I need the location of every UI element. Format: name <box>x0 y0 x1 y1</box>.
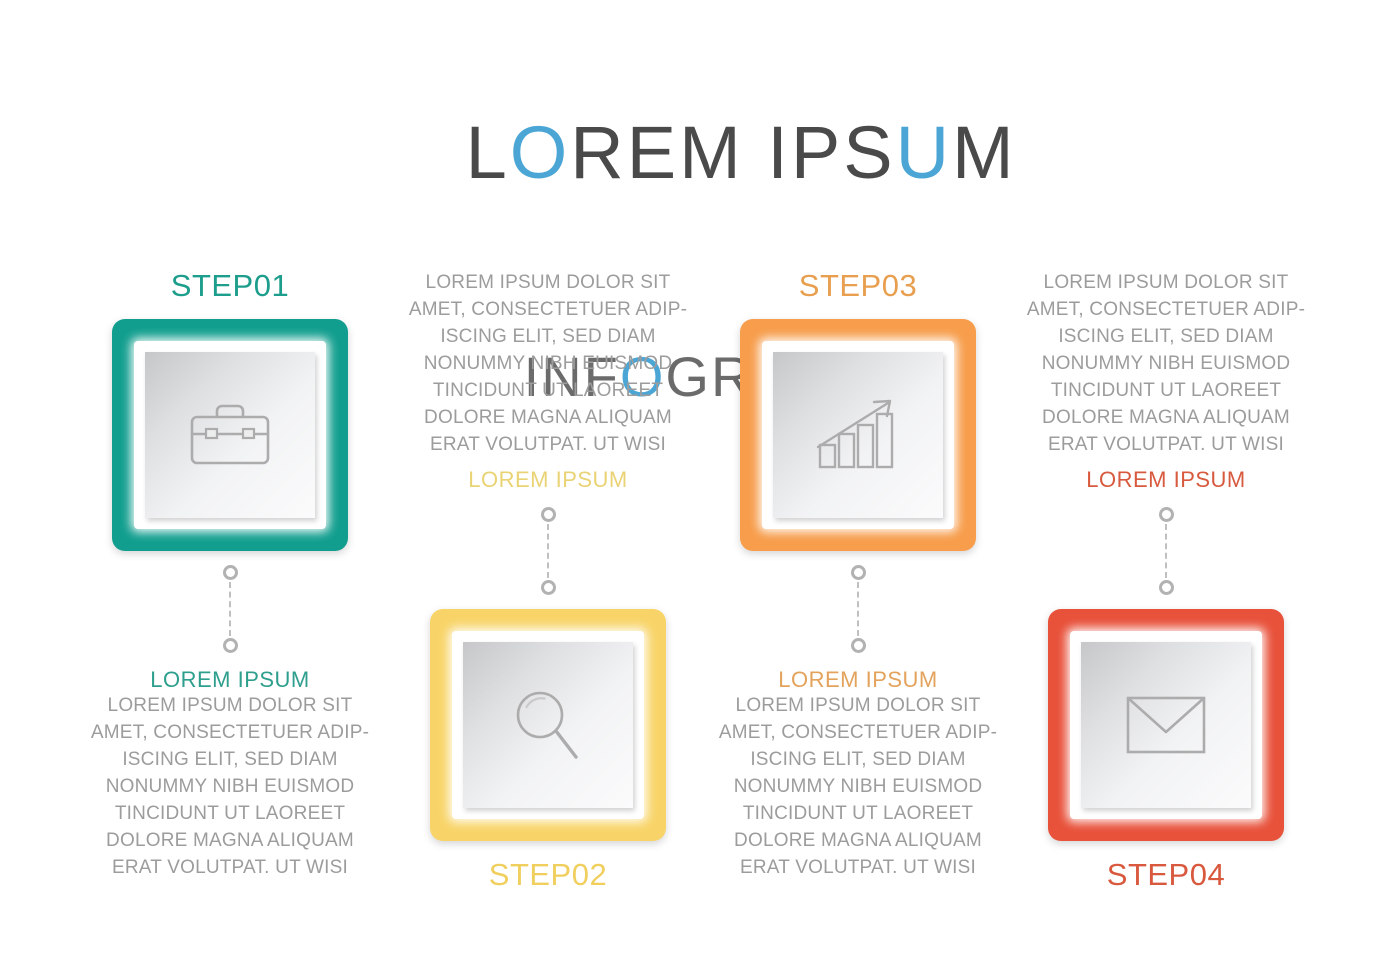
step-heading-step02: LOREM IPSUM <box>408 467 688 493</box>
card-face <box>773 352 943 518</box>
title-part: L <box>466 111 510 194</box>
step-card-step01[interactable] <box>112 319 348 551</box>
step-card-step02[interactable] <box>430 609 666 841</box>
step-label-step01: STEP01 <box>171 270 289 301</box>
connector-step01 <box>223 565 238 653</box>
step-body-step04: LOREM IPSUM DOLOR SIT AMET, CONSECTETUER… <box>1026 270 1306 459</box>
connector-ring-top <box>541 507 556 522</box>
connector-line <box>1165 524 1167 578</box>
step-body-step01: LOREM IPSUM DOLOR SIT AMET, CONSECTETUER… <box>90 693 370 882</box>
magnifier-icon <box>512 687 584 763</box>
step-label-step02: STEP02 <box>489 859 607 890</box>
card-inner <box>452 631 644 819</box>
connector-line <box>547 524 549 578</box>
step-label-step04: STEP04 <box>1107 859 1225 890</box>
card-inner <box>134 341 326 529</box>
connector-line <box>229 582 231 636</box>
step-body-step02: LOREM IPSUM DOLOR SIT AMET, CONSECTETUER… <box>408 270 688 459</box>
step-text-step03: LOREM IPSUM LOREM IPSUM DOLOR SIT AMET, … <box>718 667 998 882</box>
step-heading-step03: LOREM IPSUM <box>718 667 998 693</box>
step-column-step02: LOREM IPSUM DOLOR SIT AMET, CONSECTETUER… <box>400 270 696 940</box>
title-part-highlight: O <box>510 111 571 194</box>
step-text-step04: LOREM IPSUM DOLOR SIT AMET, CONSECTETUER… <box>1026 270 1306 493</box>
card-face <box>463 642 633 808</box>
connector-ring-bottom <box>223 638 238 653</box>
envelope-icon <box>1126 696 1206 754</box>
briefcase-icon <box>189 402 271 468</box>
step-body-step03: LOREM IPSUM DOLOR SIT AMET, CONSECTETUER… <box>718 693 998 882</box>
step-label-step03: STEP03 <box>799 270 917 301</box>
step-heading-step04: LOREM IPSUM <box>1026 467 1306 493</box>
connector-ring-bottom <box>851 638 866 653</box>
step-column-step03: STEP03 <box>710 270 1006 940</box>
connector-ring-top <box>223 565 238 580</box>
title-part: REM IPS <box>570 111 895 194</box>
connector-ring-top <box>851 565 866 580</box>
connector-step03 <box>851 565 866 653</box>
connector-ring-bottom <box>1159 580 1174 595</box>
step-column-step01: STEP01 LOREM I <box>82 270 378 940</box>
step-heading-step01: LOREM IPSUM <box>90 667 370 693</box>
connector-line <box>857 582 859 636</box>
connector-ring-bottom <box>541 580 556 595</box>
card-face <box>145 352 315 518</box>
card-inner <box>762 341 954 529</box>
step-card-step03[interactable] <box>740 319 976 551</box>
title-part: M <box>952 111 1017 194</box>
page-title: LOREM IPSUM <box>0 42 1388 264</box>
card-inner <box>1070 631 1262 819</box>
step-text-step02: LOREM IPSUM DOLOR SIT AMET, CONSECTETUER… <box>408 270 688 493</box>
title-part-highlight: U <box>896 111 952 194</box>
step-card-step04[interactable] <box>1048 609 1284 841</box>
connector-step02 <box>541 507 556 595</box>
growth-chart-icon <box>816 397 900 473</box>
connector-step04 <box>1159 507 1174 595</box>
step-column-step04: LOREM IPSUM DOLOR SIT AMET, CONSECTETUER… <box>1018 270 1314 940</box>
connector-ring-top <box>1159 507 1174 522</box>
step-text-step01: LOREM IPSUM LOREM IPSUM DOLOR SIT AMET, … <box>90 667 370 882</box>
card-face <box>1081 642 1251 808</box>
